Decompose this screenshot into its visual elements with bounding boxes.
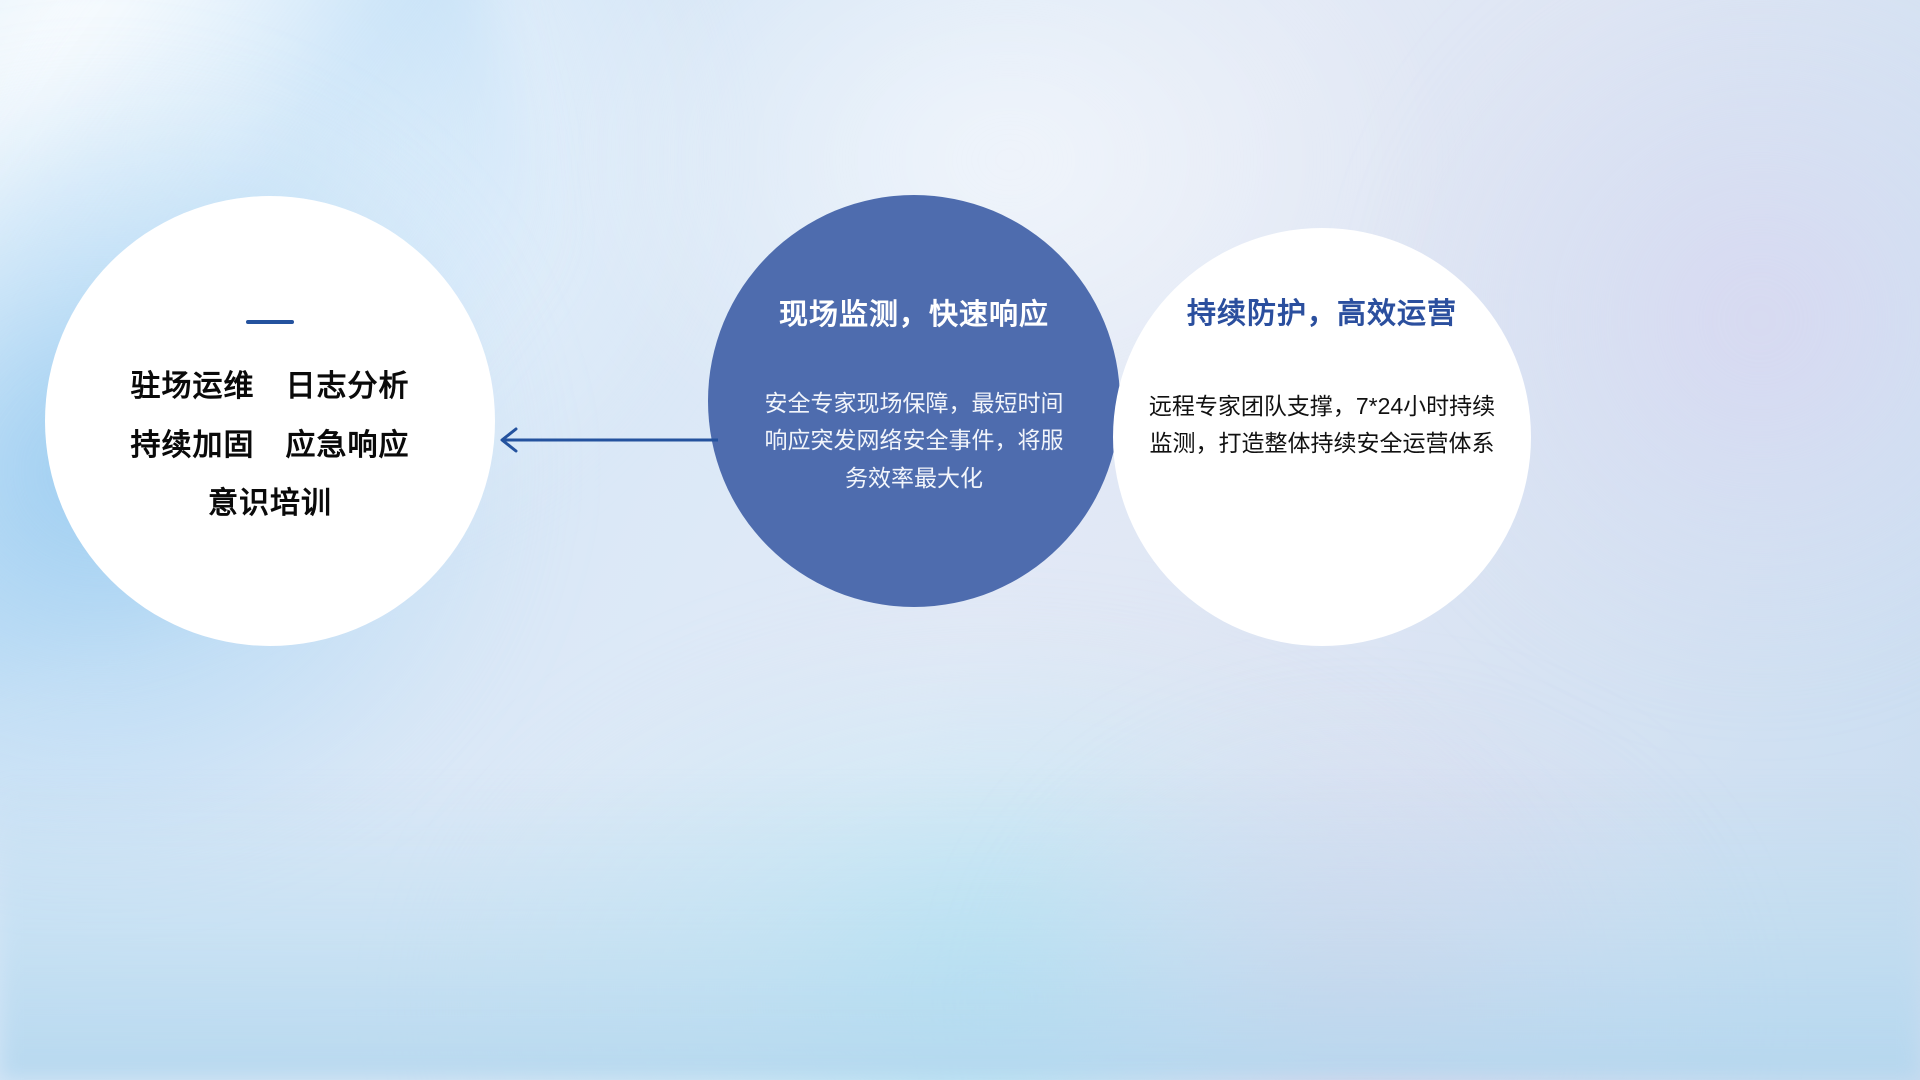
middle-circle-body: 安全专家现场保障，最短时间响应突发网络安全事件，将服务效率最大化: [764, 385, 1064, 497]
list-item: 驻场运维 日志分析: [131, 370, 410, 405]
left-circle-content: 驻场运维 日志分析 持续加固 应急响应 意识培训: [45, 196, 495, 646]
middle-circle-content: 现场监测，快速响应 安全专家现场保障，最短时间响应突发网络安全事件，将服务效率最…: [708, 195, 1120, 607]
list-item: 意识培训: [131, 487, 410, 522]
slide-canvas: 驻场运维 日志分析 持续加固 应急响应 意识培训 现场监测，快速响应 安全专家现…: [0, 0, 1920, 1080]
right-circle-content: 持续防护，高效运营 远程专家团队支撑，7*24小时持续监测，打造整体持续安全运营…: [1113, 228, 1531, 646]
background-bottom-fade: [0, 780, 1920, 1080]
left-circle-keyword-list: 驻场运维 日志分析 持续加固 应急响应 意识培训: [131, 370, 410, 522]
blue-dash-divider: [246, 320, 294, 324]
left-pointing-arrow: [490, 415, 720, 465]
right-circle-body: 远程专家团队支撑，7*24小时持续监测，打造整体持续安全运营体系: [1142, 388, 1502, 463]
right-circle-title: 持续防护，高效运营: [1187, 290, 1457, 332]
list-item: 持续加固 应急响应: [131, 429, 410, 464]
middle-circle-title: 现场监测，快速响应: [779, 291, 1049, 333]
